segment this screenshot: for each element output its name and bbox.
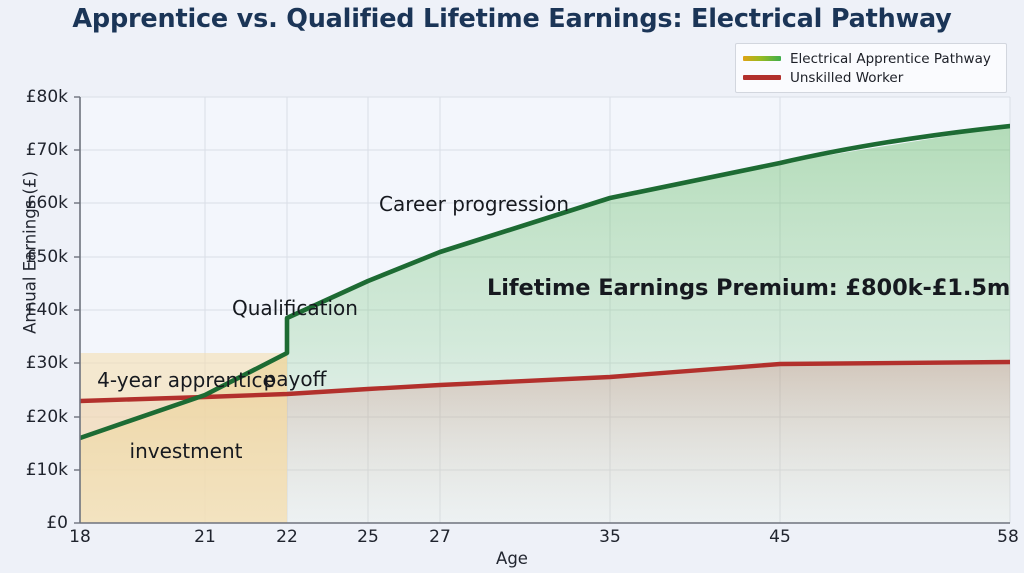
legend-item-unskilled[interactable]: Unskilled Worker — [743, 68, 999, 87]
y-tick-label: £10k — [20, 460, 68, 480]
annotation-investment-line2: investment — [96, 440, 276, 464]
y-tick-label: £80k — [20, 87, 68, 107]
legend-swatch-unskilled-icon — [743, 75, 781, 80]
annotation-payoff-line1: Qualification — [205, 297, 385, 321]
y-tick-label: £20k — [20, 407, 68, 427]
y-tick-label: £70k — [20, 140, 68, 160]
legend-swatch-apprentice-icon — [743, 56, 781, 61]
y-tick-label: £0 — [20, 513, 68, 533]
chart-figure: Apprentice vs. Qualified Lifetime Earnin… — [0, 0, 1024, 573]
y-tick-label: £50k — [20, 247, 68, 267]
annotation-payoff-line2: payoff — [205, 368, 385, 392]
y-tick-marks — [74, 97, 80, 523]
x-tick-label: 27 — [429, 527, 451, 547]
legend-label-apprentice: Electrical Apprentice Pathway — [790, 51, 991, 67]
x-tick-label: 18 — [69, 527, 91, 547]
y-tick-label: £40k — [20, 300, 68, 320]
annotation-career-progression: Career progression — [379, 193, 569, 217]
y-tick-label: £30k — [20, 353, 68, 373]
legend-label-unskilled: Unskilled Worker — [790, 70, 903, 86]
x-tick-label: 45 — [769, 527, 791, 547]
x-tick-label: 21 — [194, 527, 216, 547]
y-tick-label: £60k — [20, 193, 68, 213]
legend-item-apprentice[interactable]: Electrical Apprentice Pathway — [743, 49, 999, 68]
x-tick-label: 25 — [357, 527, 379, 547]
annotation-payoff: Qualification payoff — [205, 250, 385, 439]
x-tick-label: 22 — [276, 527, 298, 547]
x-tick-label: 58 — [997, 527, 1019, 547]
x-tick-label: 35 — [599, 527, 621, 547]
annotation-lifetime-premium: Lifetime Earnings Premium: £800k-£1.5m — [487, 275, 1010, 302]
legend: Electrical Apprentice Pathway Unskilled … — [735, 43, 1007, 93]
